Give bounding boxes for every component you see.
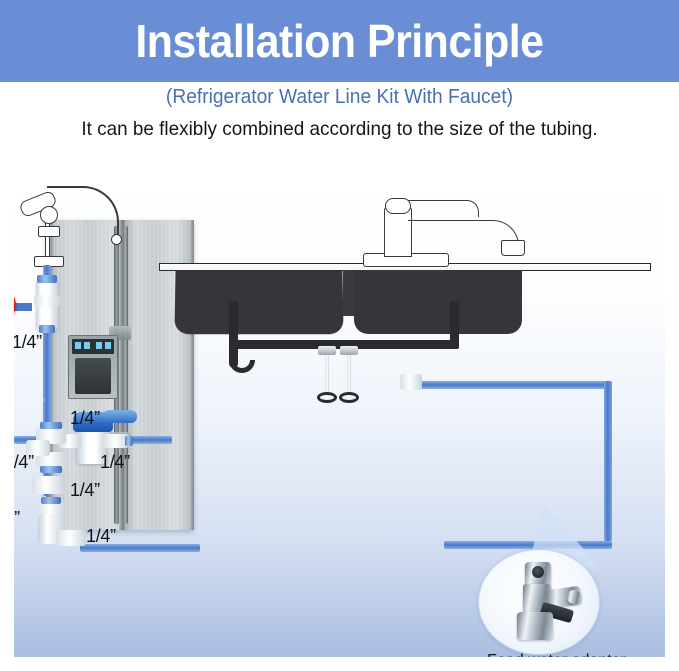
inline-connector-body	[32, 476, 64, 494]
page-tagline: It can be flexibly combined according to…	[10, 118, 669, 141]
dispenser-cavity	[75, 358, 111, 394]
feed-line-fitting-body	[400, 374, 422, 390]
installation-diagram: or 3/8” 1/4” 1/4” 1/4” 1/4” 1/4” 1/4” 1/…	[14, 160, 665, 657]
feed-water-adapter-label: Feed water adapter	[474, 652, 639, 657]
ball-valve-outlet-collet	[125, 436, 133, 446]
elbow-fitting	[30, 500, 88, 554]
fitting-ring	[34, 295, 60, 307]
feed-water-adapter-callout	[478, 549, 600, 655]
supply-nut-hot	[318, 346, 336, 355]
dispenser-button-3	[96, 342, 102, 349]
angle-stop-handle-hot	[317, 392, 337, 403]
label-tee-top-1-4: 1/4”	[70, 408, 100, 429]
label-tee-down-1-4: 1/4”	[70, 480, 100, 501]
sink-basin-divider	[343, 270, 354, 316]
feed-line-fitting	[400, 374, 422, 390]
elbow-horizontal-port	[56, 530, 86, 546]
ro-faucet-outlet	[111, 234, 122, 245]
installation-principle-infographic: Installation Principle (Refrigerator Wat…	[0, 0, 679, 671]
angle-stop-handle-cold	[339, 392, 359, 403]
label-valve-out-1-4: 1/4”	[100, 452, 130, 473]
fitting-collet-top	[37, 275, 57, 283]
arrow-shaft	[14, 303, 32, 311]
adapter-inlet-bore	[532, 566, 544, 578]
supply-nut-cold	[340, 346, 358, 355]
label-fridge-line-1-4: 1/4”	[14, 452, 34, 473]
page-title: Installation Principle	[135, 18, 543, 64]
drain-leg-right	[450, 301, 459, 345]
tee-fitting	[28, 422, 74, 474]
fitting-faucet-connector	[36, 279, 58, 331]
kitchen-faucet-aerator	[501, 240, 525, 256]
dispenser-button-4	[105, 342, 111, 349]
ro-faucet-collar	[38, 226, 60, 237]
tube-feed-right-vertical	[604, 381, 612, 541]
dispenser-button-1	[75, 342, 81, 349]
ice-water-dispenser	[68, 335, 118, 399]
label-elbow-out-1-4: 1/4”	[86, 526, 116, 547]
page-subtitle: (Refrigerator Water Line Kit With Faucet…	[14, 86, 666, 109]
ro-faucet-handle-hub	[40, 206, 58, 224]
refrigerator-handle-right	[123, 226, 128, 524]
drain-p-trap	[229, 360, 255, 373]
header-band: Installation Principle	[0, 0, 679, 82]
tee-collet-top	[40, 422, 62, 429]
drain-leg-left	[229, 301, 238, 345]
supply-riser-hot	[325, 348, 329, 396]
kitchen-faucet-lever	[408, 200, 479, 217]
sink-basin-right	[354, 270, 522, 334]
dispenser-control-panel	[72, 339, 114, 354]
elbow-collet	[41, 497, 61, 504]
inline-connector	[32, 476, 64, 496]
supply-riser-cold	[347, 348, 351, 396]
adapter-base-outlet	[517, 612, 553, 640]
sink-basin-left	[174, 270, 343, 334]
dispenser-button-2	[84, 342, 90, 349]
or-badge: or	[14, 288, 16, 322]
tee-collet-bottom	[40, 466, 62, 473]
label-faucet-line-1-4: 1/4”	[14, 332, 42, 353]
feed-water-adapter-illustration	[501, 560, 581, 640]
tube-faucet-drop	[43, 328, 51, 400]
adapter-push-fit-port	[567, 590, 581, 604]
tube-feed-top	[412, 381, 612, 389]
label-elbow-in-1-4: 1/4”	[14, 508, 20, 529]
ball-valve-lever	[103, 410, 137, 423]
